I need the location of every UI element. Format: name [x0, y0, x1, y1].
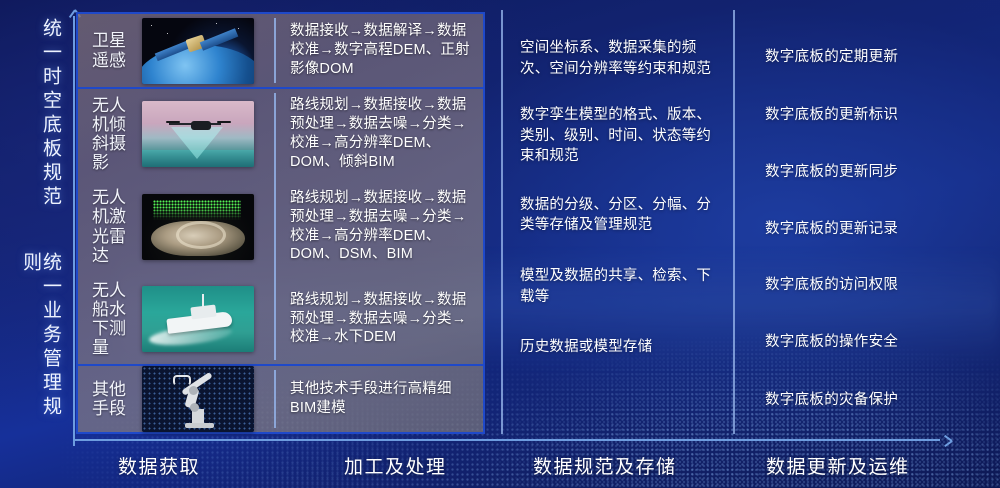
matrix-row[interactable]: 卫星遥感 数据接收→数据解译→数据校准→数字高程DEM、正射影像DOM — [78, 14, 483, 87]
standards-item: 数据的分级、分区、分幅、分类等存储及管理规范 — [520, 195, 720, 236]
row-left-cell: 卫星遥感 — [78, 18, 274, 84]
side-label-business-management-rule: 统一业务管理规则 — [18, 252, 60, 442]
robot-joint — [189, 386, 198, 395]
side-label-spatiotemporal-standard: 统一时空底板规范 — [18, 18, 60, 233]
update-item: 数字底板的定期更新 — [765, 47, 980, 67]
terrain-contour — [176, 221, 227, 249]
infographic-root: 统一时空底板规范 统一业务管理规则 卫星遥感 — [0, 0, 1000, 488]
scan-beam — [171, 127, 223, 159]
method-name: 其他手段 — [92, 380, 134, 418]
row-left-cell: 无人机激光雷达 — [78, 188, 274, 264]
stage-label-processing: 加工及处理 — [344, 452, 447, 479]
stage-label-row: 数据获取 加工及处理 数据规范及存储 数据更新及运维 — [0, 444, 1000, 488]
vertical-axis-line — [73, 16, 75, 446]
star-dot — [216, 23, 217, 24]
method-name: 无人机倾斜摄影 — [92, 96, 134, 172]
standards-item: 历史数据或模型存储 — [520, 337, 720, 358]
row-right-cell: 其他技术手段进行高精细BIM建模 — [274, 380, 483, 418]
lidar-point-cloud-image — [142, 194, 254, 260]
panel-section-satellite: 卫星遥感 数据接收→数据解译→数据校准→数字高程DEM、正射影像DOM — [78, 14, 483, 87]
horizontal-axis-line — [74, 439, 940, 441]
process-text: 数据接收→数据解译→数据校准→数字高程DEM、正射影像DOM — [290, 22, 475, 79]
green-point-cloud — [153, 200, 240, 220]
star-dot — [238, 28, 239, 29]
star-dot — [151, 25, 152, 26]
row-right-cell: 路线规划→数据接收→数据预处理→数据去噪→分类→校准→高分辨率DEM、DOM、倾… — [274, 96, 483, 171]
matrix-row[interactable]: 无人机激光雷达 路线规划→数据接收→数据预处理→数据去噪→分类→校准→高分辨率D… — [78, 179, 483, 274]
satellite-remote-sensing-image — [142, 18, 254, 84]
standards-item: 模型及数据的共享、检索、下载等 — [520, 266, 720, 307]
update-item: 数字底板的访问权限 — [765, 275, 980, 295]
acquisition-processing-panel: 卫星遥感 数据接收→数据解译→数据校准→数字高程DEM、正射影像DOM — [76, 12, 485, 434]
robot-gripper — [173, 375, 190, 386]
row-left-cell: 无人机倾斜摄影 — [78, 96, 274, 172]
standards-item: 空间坐标系、数据采集的频次、空间分辨率等约束和规范 — [520, 38, 720, 79]
stage-label-update-maintenance: 数据更新及运维 — [766, 452, 910, 479]
update-column: 数字底板的定期更新 数字底板的更新标识 数字底板的更新同步 数字底板的更新记录 … — [765, 24, 980, 410]
row-left-cell: 无人船水下测量 — [78, 281, 274, 357]
panel-section-other: 其他手段 其他技术手段进行高精细BIM建模 — [78, 364, 483, 432]
process-text: 路线规划→数据接收→数据预处理→数据去噪→分类→校准→高分辨率DEM、DOM、倾… — [290, 96, 475, 171]
row-right-cell: 路线规划→数据接收→数据预处理→数据去噪→分类→校准→水下DEM — [274, 291, 483, 348]
column-divider-update — [733, 10, 735, 434]
drone-body — [191, 121, 211, 130]
unmanned-boat-image — [142, 286, 254, 352]
process-text: 其他技术手段进行高精细BIM建模 — [290, 380, 475, 418]
boat-mast — [202, 294, 204, 307]
row-right-cell: 数据接收→数据解译→数据校准→数字高程DEM、正射影像DOM — [274, 22, 483, 79]
method-name: 无人船水下测量 — [92, 281, 134, 357]
robot-base — [185, 423, 214, 428]
process-text: 路线规划→数据接收→数据预处理→数据去噪→分类→校准→高分辨率DEM、DOM、D… — [290, 189, 475, 264]
star-dot — [167, 33, 168, 34]
update-item: 数字底板的灾备保护 — [765, 390, 980, 410]
standards-column: 空间坐标系、数据采集的频次、空间分辨率等约束和规范 数字孪生模型的格式、版本、类… — [520, 24, 720, 358]
column-divider-standards — [501, 10, 503, 434]
row-right-cell: 路线规划→数据接收→数据预处理→数据去噪→分类→校准→高分辨率DEM、DOM、D… — [274, 189, 483, 264]
matrix-row[interactable]: 无人机倾斜摄影 路线规划→数据接收→数据预处理→数据去噪→分类→校准→高分辨率D… — [78, 89, 483, 179]
standards-item: 数字孪生模型的格式、版本、类别、级别、时间、状态等约束和规范 — [520, 105, 720, 167]
stage-label-standards-storage: 数据规范及存储 — [533, 452, 677, 479]
stage-label-data-acquisition: 数据获取 — [118, 452, 200, 479]
matrix-row[interactable]: 无人船水下测量 路线规划→数据接收→数据预处理→数据去噪→分类→校准→水下DEM — [78, 274, 483, 364]
update-item: 数字底板的更新标识 — [765, 105, 980, 125]
panel-section-uav-and-boat: 无人机倾斜摄影 路线规划→数据接收→数据预处理→数据去噪→分类→校准→高分辨率D… — [78, 87, 483, 364]
section-vertical-divider — [274, 93, 276, 360]
robot-arm-image — [142, 366, 254, 432]
method-name: 无人机激光雷达 — [92, 188, 134, 264]
matrix-row[interactable]: 其他手段 其他技术手段进行高精细BIM建模 — [78, 366, 483, 432]
section-vertical-divider — [274, 370, 276, 428]
row-left-cell: 其他手段 — [78, 366, 274, 432]
update-item: 数字底板的更新记录 — [765, 219, 980, 239]
method-name: 卫星遥感 — [92, 31, 134, 69]
update-item: 数字底板的操作安全 — [765, 332, 980, 352]
process-text: 路线规划→数据接收→数据预处理→数据去噪→分类→校准→水下DEM — [290, 291, 475, 348]
drone-oblique-photography-image — [142, 101, 254, 167]
update-item: 数字底板的更新同步 — [765, 162, 980, 182]
section-vertical-divider — [274, 18, 276, 83]
